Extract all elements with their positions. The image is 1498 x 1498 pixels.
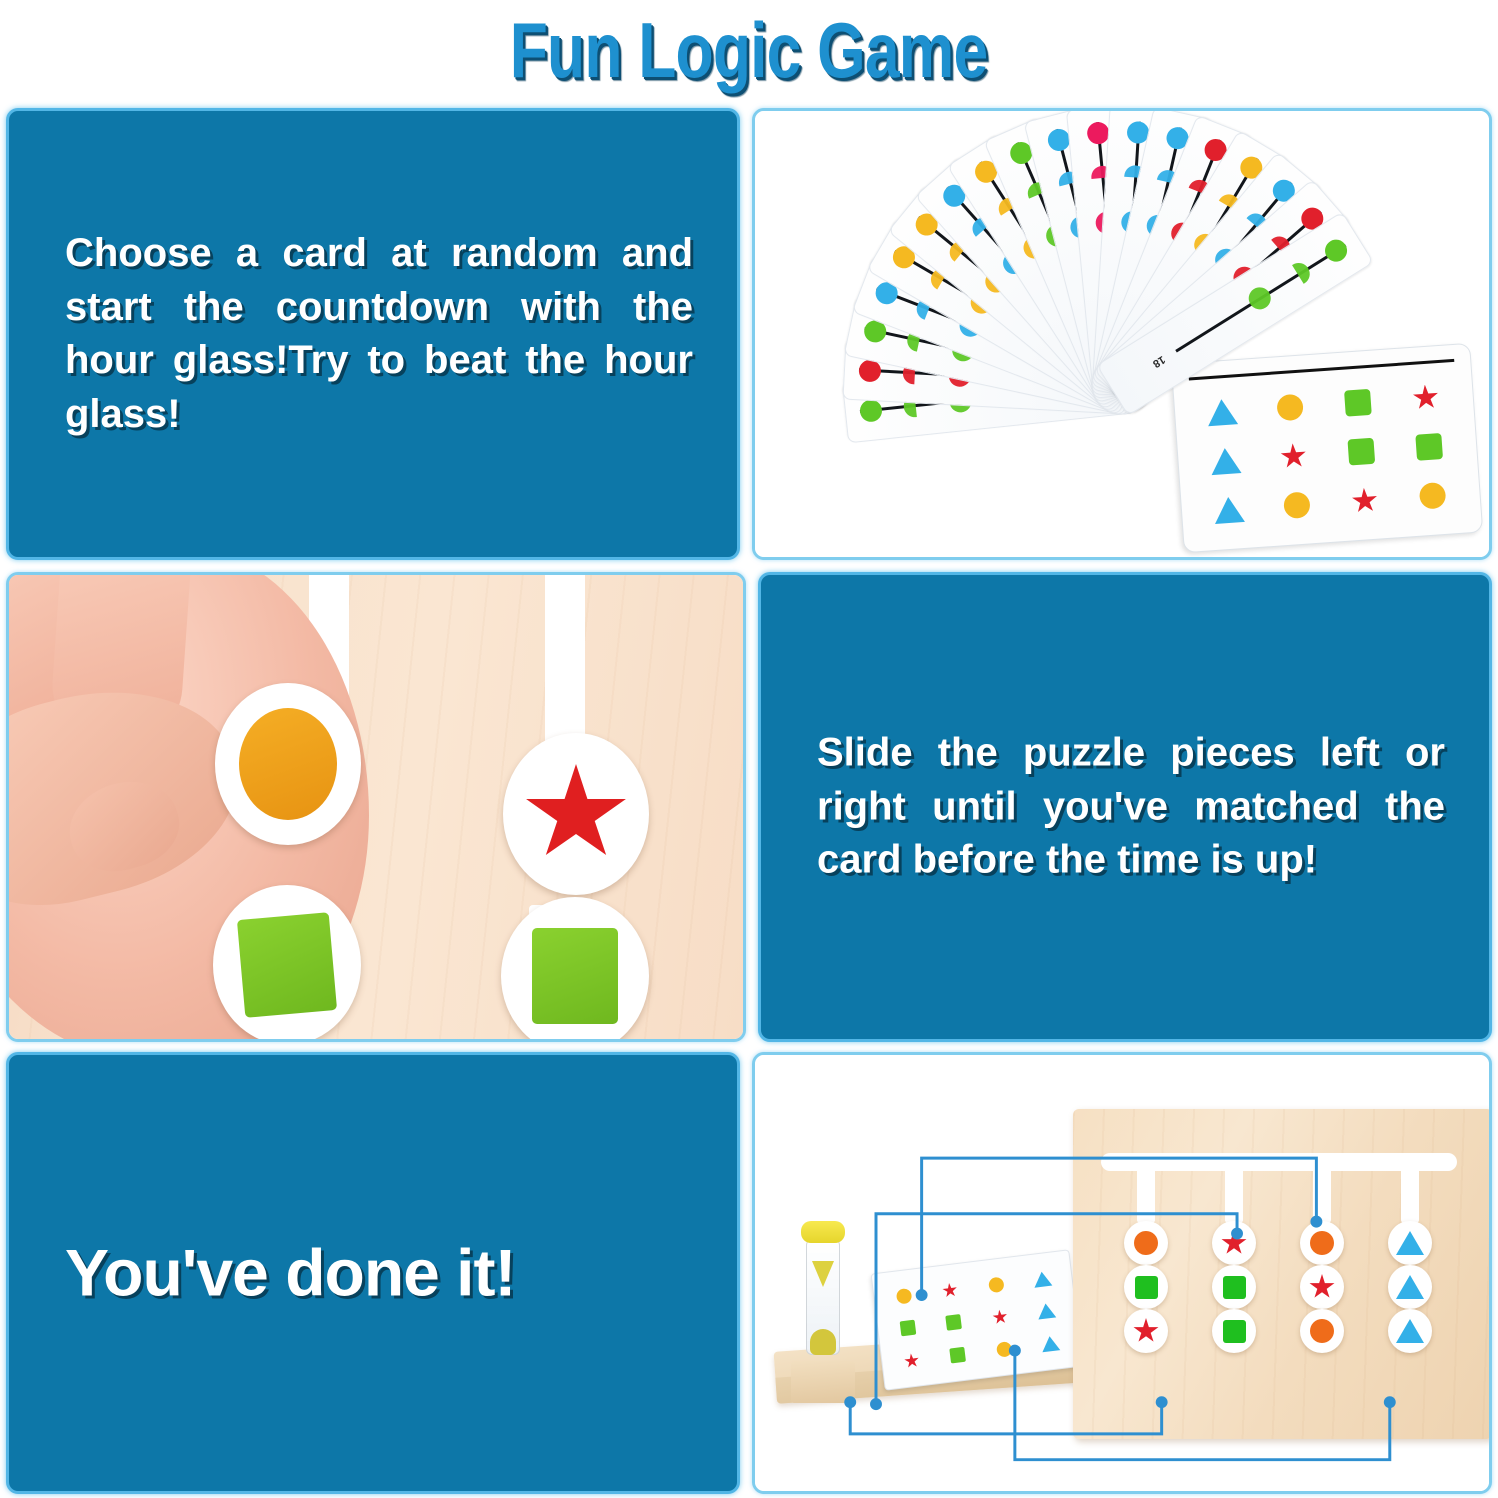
panel-step3-text: You've done it!: [6, 1052, 740, 1494]
step2-instruction: Slide the puzzle pieces left or right un…: [817, 727, 1445, 888]
shape-square-icon: [899, 1320, 916, 1337]
hourglass-sand-bottom: [810, 1329, 836, 1355]
row-step-2: Slide the puzzle pieces left or right un…: [6, 572, 1492, 1042]
shape-circle-icon: [1419, 482, 1447, 510]
board-bead[interactable]: [1124, 1221, 1168, 1265]
panel-hand-photo: [6, 572, 746, 1042]
front-card-column: [1393, 371, 1465, 523]
shape-star-icon: [1309, 1274, 1335, 1300]
row-step-1: Choose a card at random and start the co…: [6, 108, 1492, 560]
shape-star-icon: [903, 1353, 920, 1370]
panel-grid: Choose a card at random and start the co…: [6, 108, 1492, 1494]
shape-square-icon: [946, 1314, 963, 1331]
shape-triangle-icon: [1396, 1231, 1424, 1255]
board-bead[interactable]: [1212, 1221, 1256, 1265]
board-bead[interactable]: [1212, 1265, 1256, 1309]
card-pip: [859, 398, 883, 422]
page-title: Fun Logic Game: [510, 5, 988, 96]
shape-circle-icon: [1310, 1231, 1334, 1255]
wooden-puzzle-board: [1073, 1109, 1489, 1439]
shape-star-icon: [1221, 1230, 1247, 1256]
shape-star-icon: [992, 1309, 1009, 1326]
shape-circle-icon: [239, 708, 337, 820]
panel-step1-text: Choose a card at random and start the co…: [6, 108, 740, 560]
puzzle-piece-green-square-left[interactable]: [213, 885, 361, 1039]
board-with-hourglass-image: [755, 1055, 1489, 1491]
hourglass-cap: [801, 1221, 845, 1243]
board-bead[interactable]: [1124, 1265, 1168, 1309]
front-card-column: [1257, 380, 1329, 532]
shape-square-icon: [1415, 433, 1443, 461]
shape-square-icon: [1344, 389, 1372, 417]
shape-triangle-icon: [1213, 496, 1245, 524]
shape-circle-icon: [1310, 1319, 1334, 1343]
shape-triangle-icon: [1036, 1303, 1056, 1320]
shape-square-icon: [237, 912, 337, 1018]
hand-sliding-pieces-image: [9, 575, 743, 1039]
shape-square-icon: [950, 1347, 967, 1364]
card-pip: [1292, 258, 1314, 283]
board-bead[interactable]: [1212, 1309, 1256, 1353]
shape-star-icon: [1412, 384, 1440, 412]
vertical-track: [1137, 1167, 1155, 1223]
board-bead[interactable]: [1388, 1265, 1432, 1309]
vertical-track: [1225, 1167, 1243, 1223]
shape-triangle-icon: [1032, 1271, 1052, 1288]
infographic-page: Fun Logic Game Choose a card at random a…: [0, 0, 1498, 1498]
shape-square-icon: [532, 928, 618, 1024]
fan-of-cards-image: 123456789101112131415161718: [755, 111, 1489, 557]
page-title-bar: Fun Logic Game: [0, 0, 1498, 100]
vertical-track: [1313, 1167, 1331, 1223]
shape-square-icon: [1135, 1276, 1158, 1299]
board-bead[interactable]: [1300, 1309, 1344, 1353]
hourglass-timer: [799, 1221, 847, 1371]
step3-message: You've done it!: [65, 1237, 693, 1310]
shape-triangle-icon: [1206, 398, 1238, 426]
reference-card: [871, 1249, 1084, 1390]
shape-triangle-icon: [1396, 1275, 1424, 1299]
card-pip: [1321, 235, 1351, 265]
puzzle-piece-red-star[interactable]: [503, 733, 649, 895]
shape-star-icon: [524, 764, 628, 864]
shape-circle-icon: [988, 1276, 1005, 1293]
shape-star-icon: [942, 1282, 959, 1299]
puzzle-piece-orange-circle[interactable]: [215, 683, 361, 845]
panel-board-photo: [752, 1052, 1492, 1494]
row-step-3: You've done it!: [6, 1052, 1492, 1494]
shape-circle-icon: [1134, 1231, 1158, 1255]
shape-circle-icon: [996, 1341, 1013, 1358]
board-bead[interactable]: [1124, 1309, 1168, 1353]
front-challenge-card: [1171, 343, 1484, 553]
shape-circle-icon: [895, 1288, 912, 1305]
front-card-column: [1325, 376, 1397, 528]
panel-step2-text: Slide the puzzle pieces left or right un…: [758, 572, 1492, 1042]
board-bead[interactable]: [1300, 1265, 1344, 1309]
shape-star-icon: [1280, 442, 1308, 470]
shape-triangle-icon: [1040, 1335, 1060, 1352]
board-bead[interactable]: [1388, 1309, 1432, 1353]
slot-strip: [545, 575, 585, 755]
shape-circle-icon: [1283, 492, 1311, 520]
board-bead[interactable]: [1388, 1221, 1432, 1265]
shape-square-icon: [1347, 438, 1375, 466]
panel-cards-photo: 123456789101112131415161718: [752, 108, 1492, 560]
shape-triangle-icon: [1210, 447, 1242, 475]
front-card-column: [1190, 385, 1262, 537]
card-number: 18: [1150, 353, 1167, 370]
step1-instruction: Choose a card at random and start the co…: [65, 227, 693, 441]
hourglass-base: [791, 1361, 855, 1403]
shape-square-icon: [1223, 1276, 1246, 1299]
reference-card-column: [1018, 1260, 1074, 1363]
shape-square-icon: [1223, 1320, 1246, 1343]
vertical-track: [1401, 1167, 1419, 1223]
card-pip: [1245, 283, 1275, 313]
shape-circle-icon: [1276, 393, 1304, 421]
shape-triangle-icon: [1396, 1319, 1424, 1343]
shape-star-icon: [1351, 487, 1379, 515]
shape-star-icon: [1133, 1318, 1159, 1344]
board-bead[interactable]: [1300, 1221, 1344, 1265]
